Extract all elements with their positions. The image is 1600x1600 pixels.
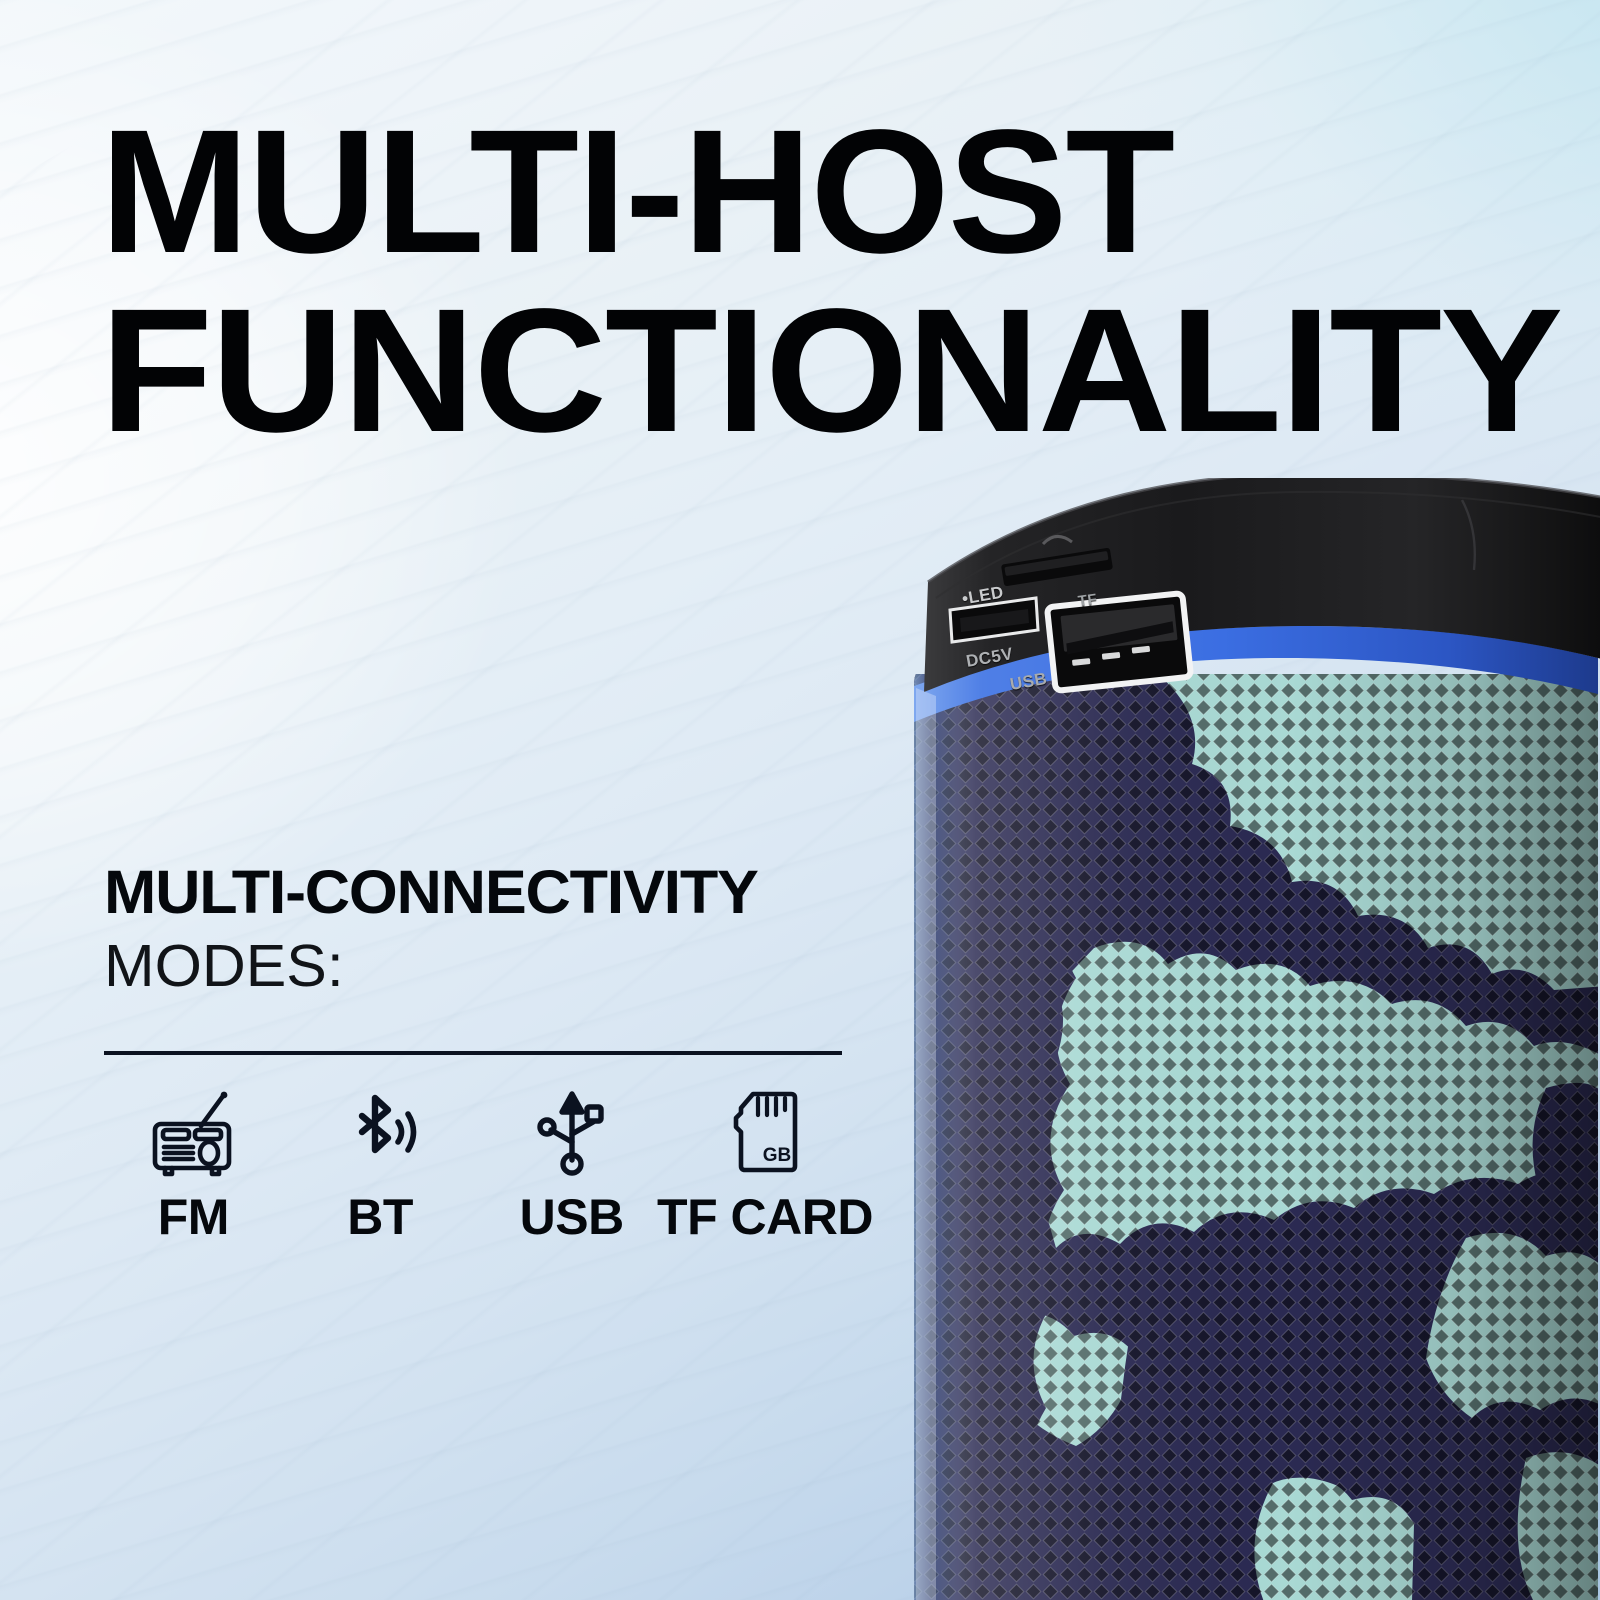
speaker-camo-body [906, 668, 1600, 1600]
modes-subtitle: MODES: [104, 937, 887, 996]
mode-label-fm: FM [158, 1192, 229, 1242]
usb-icon [524, 1080, 620, 1184]
headline-line-1: MULTI-HOST [100, 108, 1467, 277]
radio-icon [145, 1080, 241, 1184]
mode-label-bt: BT [347, 1192, 413, 1242]
connectivity-modes-row: FM BT [100, 1080, 860, 1242]
modes-title: MULTI-CONNECTIVITY [104, 862, 887, 923]
mode-item-fm: FM [100, 1080, 287, 1242]
mode-label-usb: USB [520, 1192, 624, 1242]
product-marketing-banner: MULTI-HOST FUNCTIONALITY MULTI-CONNECTIV… [0, 0, 1600, 1600]
usb-a-port [1047, 593, 1191, 691]
section-divider [104, 1051, 842, 1055]
bluetooth-icon [332, 1080, 428, 1184]
page-title: MULTI-HOST FUNCTIONALITY [100, 108, 1440, 456]
sd-card-icon: GB [717, 1080, 813, 1184]
speaker-left-highlight [916, 688, 936, 1600]
mode-item-bt: BT [287, 1080, 474, 1242]
port-label-tf: TF [1077, 591, 1099, 611]
sd-card-gb-text: GB [763, 1145, 792, 1166]
mode-item-usb: USB [473, 1080, 670, 1242]
mode-item-tf-card: GB TF CARD [670, 1080, 860, 1242]
modes-heading-block: MULTI-CONNECTIVITY MODES: [104, 862, 864, 996]
headline-line-2: FUNCTIONALITY [100, 287, 1507, 456]
mode-label-tf-card: TF CARD [657, 1192, 873, 1242]
